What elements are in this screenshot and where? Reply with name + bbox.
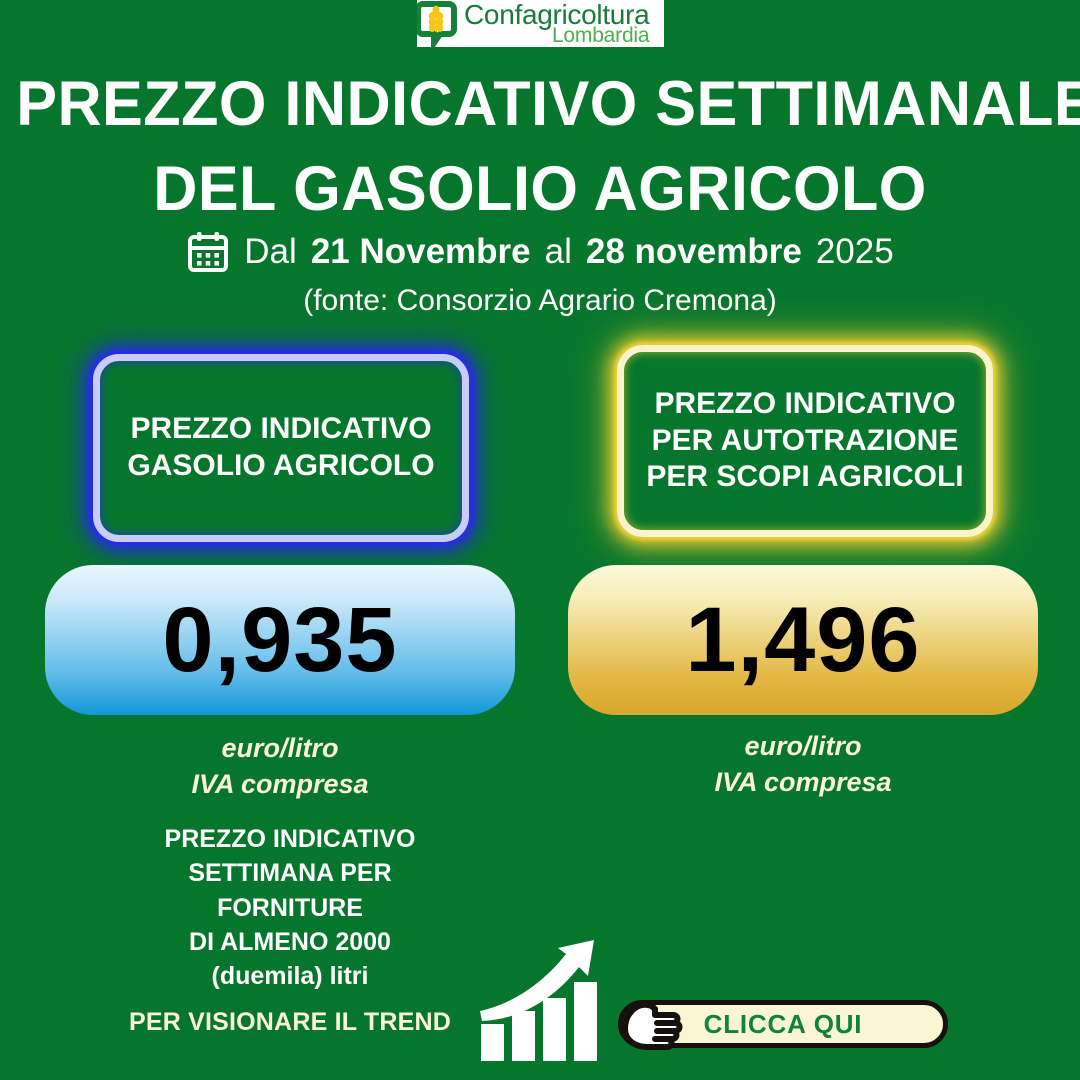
- panel-label-line-2: PER AUTOTRAZIONE: [652, 423, 959, 460]
- brand-logo: Confagricoltura Lombardia: [417, 0, 664, 47]
- panel-label-line-1: PREZZO INDICATIVO: [130, 411, 431, 448]
- page-title: PREZZO INDICATIVO SETTIMANALE DEL GASOLI…: [16, 62, 1064, 232]
- date-range: Dal 21 Novembre al 28 novembre 2025: [0, 230, 1080, 274]
- note-line-1: PREZZO INDICATIVO: [110, 822, 470, 856]
- date-year: 2025: [816, 232, 894, 272]
- brand-region: Lombardia: [464, 26, 649, 45]
- date-from: 21 Novembre: [311, 232, 531, 272]
- pointing-hand-icon[interactable]: [617, 996, 689, 1058]
- unit-line-1: euro/litro: [568, 728, 1038, 764]
- unit-line-2: IVA compresa: [45, 766, 515, 802]
- date-prefix: Dal: [244, 232, 297, 272]
- growth-bar-chart-arrow-icon: [478, 932, 604, 1064]
- calendar-icon: [186, 230, 230, 274]
- page-title-line-1: PREZZO INDICATIVO SETTIMANALE: [16, 62, 1064, 147]
- price-value-autotrazione: 1,496: [568, 565, 1038, 715]
- price-unit-autotrazione: euro/litro IVA compresa: [568, 728, 1038, 801]
- panel-label-autotrazione: PREZZO INDICATIVO PER AUTOTRAZIONE PER S…: [617, 345, 993, 537]
- magnifier-wheat-logo-icon: [417, 0, 463, 47]
- note-line-5: (duemila) litri: [110, 959, 470, 993]
- panel-label-line-3: PER SCOPI AGRICOLI: [646, 459, 963, 496]
- panel-label-gasolio-agricolo: PREZZO INDICATIVO GASOLIO AGRICOLO: [93, 354, 469, 542]
- price-unit-gasolio-agricolo: euro/litro IVA compresa: [45, 730, 515, 803]
- supply-conditions-note: PREZZO INDICATIVO SETTIMANA PER FORNITUR…: [110, 822, 470, 993]
- date-to: 28 novembre: [586, 232, 802, 272]
- note-line-4: DI ALMENO 2000: [110, 925, 470, 959]
- note-line-3: FORNITURE: [110, 891, 470, 925]
- panel-label-line-2: GASOLIO AGRICOLO: [127, 448, 434, 485]
- trend-label: PER VISIONARE IL TREND: [110, 1008, 470, 1037]
- panel-label-line-1: PREZZO INDICATIVO: [654, 386, 955, 423]
- cta-label: CLICCA QUI: [704, 1009, 863, 1040]
- note-line-2: SETTIMANA PER: [110, 856, 470, 890]
- page-title-line-2: DEL GASOLIO AGRICOLO: [16, 147, 1064, 232]
- date-middle: al: [545, 232, 572, 272]
- unit-line-2: IVA compresa: [568, 764, 1038, 800]
- price-value-gasolio-agricolo: 0,935: [45, 565, 515, 715]
- unit-line-1: euro/litro: [45, 730, 515, 766]
- source-note: (fonte: Consorzio Agrario Cremona): [0, 284, 1080, 318]
